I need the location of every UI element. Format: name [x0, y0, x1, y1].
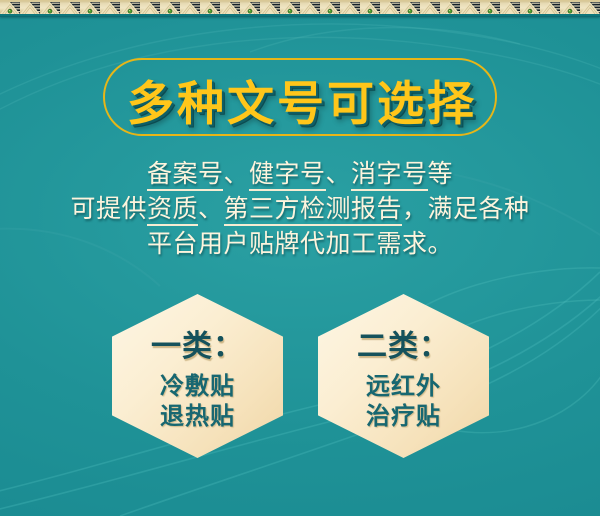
title-frame: 多种文号可选择	[103, 58, 497, 136]
category-item: 冷敷贴	[160, 371, 235, 401]
category-title: 二类：	[357, 321, 450, 365]
description-line-2: 可提供资质、第三方检测报告，满足各种	[0, 191, 600, 226]
text-run: ，满足各种	[402, 194, 530, 223]
category-hexagon-1: 一类： 冷敷贴 退热贴	[112, 294, 283, 458]
category-item: 退热贴	[160, 401, 235, 431]
category-item: 治疗贴	[366, 401, 441, 431]
category-title: 一类：	[151, 321, 244, 365]
highlighted-term: 消字号	[351, 159, 428, 191]
category-hexagon-2: 二类： 远红外 治疗贴	[318, 294, 489, 458]
border-pattern	[0, 0, 600, 16]
text-run: 、	[223, 159, 249, 188]
category-item: 远红外	[366, 371, 441, 401]
highlighted-term: 健字号	[249, 159, 326, 191]
description-paragraph: 备案号、健字号、消字号等可提供资质、第三方检测报告，满足各种平台用户贴牌代加工需…	[0, 156, 600, 261]
text-run: 、	[198, 194, 224, 223]
description-line-1: 备案号、健字号、消字号等	[0, 156, 600, 191]
page-title: 多种文号可选择	[105, 60, 499, 138]
description-line-3: 平台用户贴牌代加工需求。	[0, 226, 600, 261]
text-run: 平台用户贴牌代加工需求。	[147, 229, 453, 258]
ornamental-top-border	[0, 0, 600, 16]
text-run: 、	[326, 159, 352, 188]
text-run: 可提供	[70, 194, 147, 223]
text-run: 等	[428, 159, 454, 188]
highlighted-term: 备案号	[147, 159, 224, 191]
highlighted-term: 第三方检测报告	[224, 194, 403, 226]
promo-poster: 多种文号可选择 备案号、健字号、消字号等可提供资质、第三方检测报告，满足各种平台…	[0, 0, 600, 516]
highlighted-term: 资质	[147, 194, 198, 226]
